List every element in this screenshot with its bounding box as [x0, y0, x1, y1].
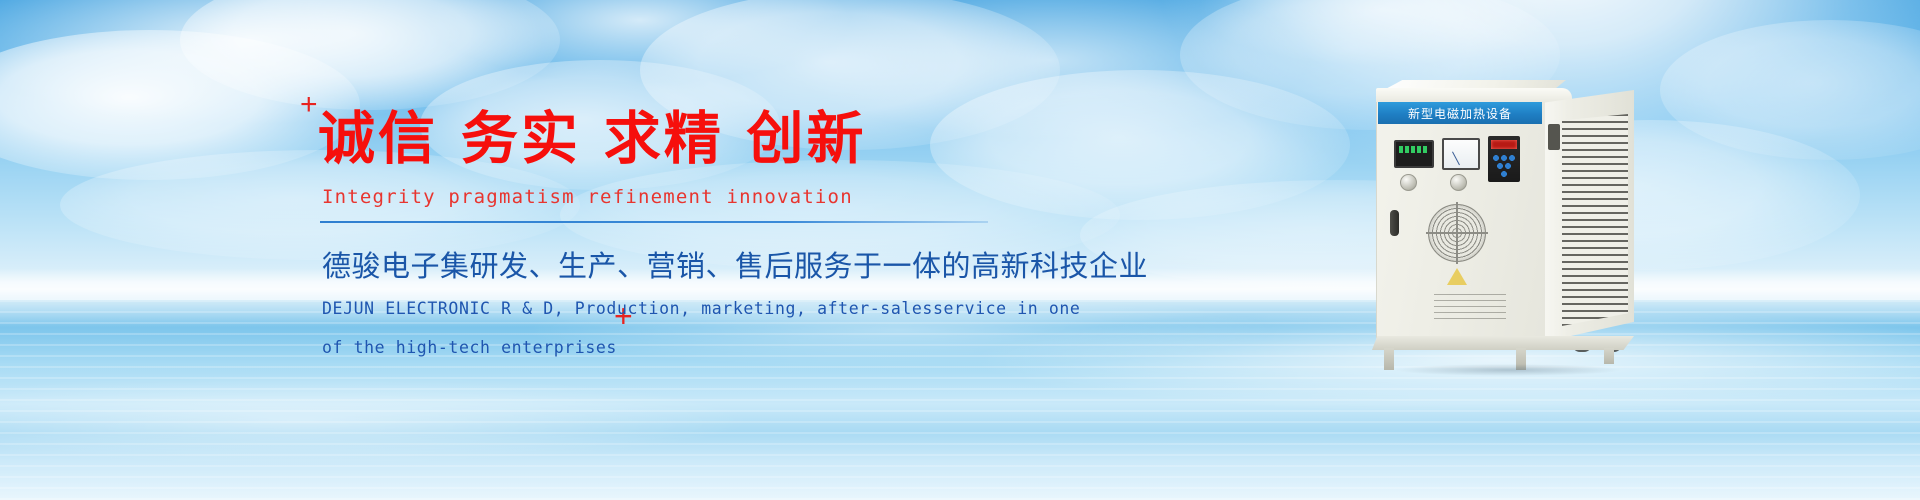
divider-rule — [320, 221, 988, 223]
machine-knob-right — [1450, 174, 1467, 191]
machine-ground-shadow — [1360, 362, 1656, 378]
subhead-english-line-2: of the high-tech enterprises — [322, 333, 1018, 364]
machine-analog-gauge — [1442, 138, 1480, 170]
machine-controller-module — [1488, 136, 1520, 182]
banner-copy: 诚信 务实 求精 创新 Integrity pragmatism refinem… — [318, 108, 1018, 364]
hero-banner: + + 诚信 务实 求精 创新 Integrity pragmatism ref… — [0, 0, 1920, 500]
machine-knob-left — [1400, 174, 1417, 191]
machine-door-latch — [1390, 210, 1399, 236]
headline-english: Integrity pragmatism refinement innovati… — [322, 186, 1018, 208]
plus-mark-icon: + — [300, 90, 318, 120]
machine-spec-label — [1434, 294, 1506, 320]
product-machine-image: 新型电磁加热设备 — [1376, 62, 1646, 362]
subhead-english-line-1: DEJUN ELECTRONIC R & D, Production, mark… — [322, 294, 1018, 325]
subhead-chinese: 德骏电子集研发、生产、营销、售后服务于一体的高新科技企业 — [322, 243, 1018, 285]
machine-base — [1372, 336, 1634, 350]
machine-vent-louvers-icon — [1562, 114, 1628, 326]
machine-nameplate-label: 新型电磁加热设备 — [1408, 105, 1512, 122]
machine-fan-grille-icon — [1428, 204, 1486, 262]
machine-keypad-icon — [1492, 154, 1516, 178]
machine-led-readout — [1491, 140, 1517, 149]
machine-nameplate: 新型电磁加热设备 — [1378, 102, 1542, 124]
machine-warning-triangle-icon — [1447, 268, 1467, 285]
headline-chinese: 诚信 务实 求精 创新 — [318, 108, 1018, 172]
machine-side-handle — [1548, 124, 1560, 150]
machine-digital-display — [1394, 140, 1434, 168]
